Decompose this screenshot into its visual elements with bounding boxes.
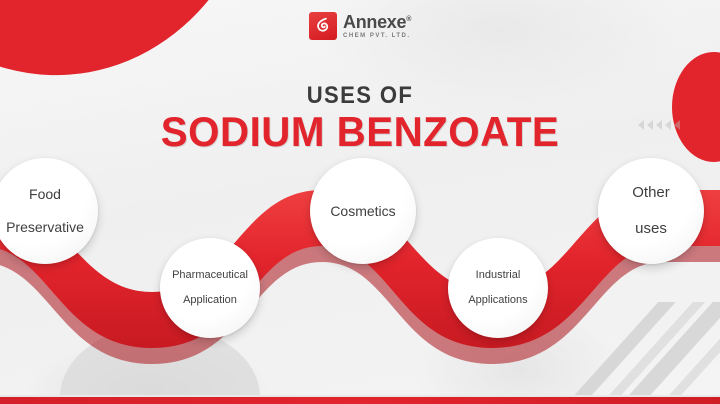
brand-wordmark: Annexe® CHEM PVT. LTD. bbox=[343, 13, 411, 39]
flow-node-label: Otheruses bbox=[620, 184, 682, 237]
flow-node-other-uses[interactable]: Otheruses bbox=[598, 158, 704, 264]
flow-node-industrial-applications[interactable]: IndustrialApplications bbox=[448, 238, 548, 338]
flow-node-label: FoodPreservative bbox=[0, 186, 96, 236]
brand-logo: Annexe® CHEM PVT. LTD. bbox=[309, 12, 411, 40]
flow-node-cosmetics[interactable]: Cosmetics bbox=[310, 158, 416, 264]
brand-name-text: Annexe bbox=[343, 12, 406, 32]
flame-droplet-icon bbox=[309, 12, 337, 40]
flow-node-label: PharmaceuticalApplication bbox=[160, 269, 260, 308]
uses-flow-diagram: FoodPreservative PharmaceuticalApplicati… bbox=[0, 150, 720, 365]
chevron-left-icon bbox=[638, 120, 680, 130]
brand-tagline: CHEM PVT. LTD. bbox=[343, 33, 411, 39]
flow-node-label: Cosmetics bbox=[324, 203, 401, 220]
heading-eyebrow: USES OF bbox=[29, 82, 691, 110]
flow-node-label: IndustrialApplications bbox=[456, 269, 539, 308]
brand-name: Annexe® bbox=[343, 13, 411, 31]
infographic-canvas: Annexe® CHEM PVT. LTD. USES OF SODIUM BE… bbox=[0, 0, 720, 404]
bottom-red-bar bbox=[0, 397, 720, 404]
top-left-red-blob bbox=[0, 0, 279, 89]
page-title: SODIUM BENZOATE bbox=[14, 108, 705, 156]
brand-trademark: ® bbox=[406, 16, 411, 23]
flow-node-pharmaceutical[interactable]: PharmaceuticalApplication bbox=[160, 238, 260, 338]
